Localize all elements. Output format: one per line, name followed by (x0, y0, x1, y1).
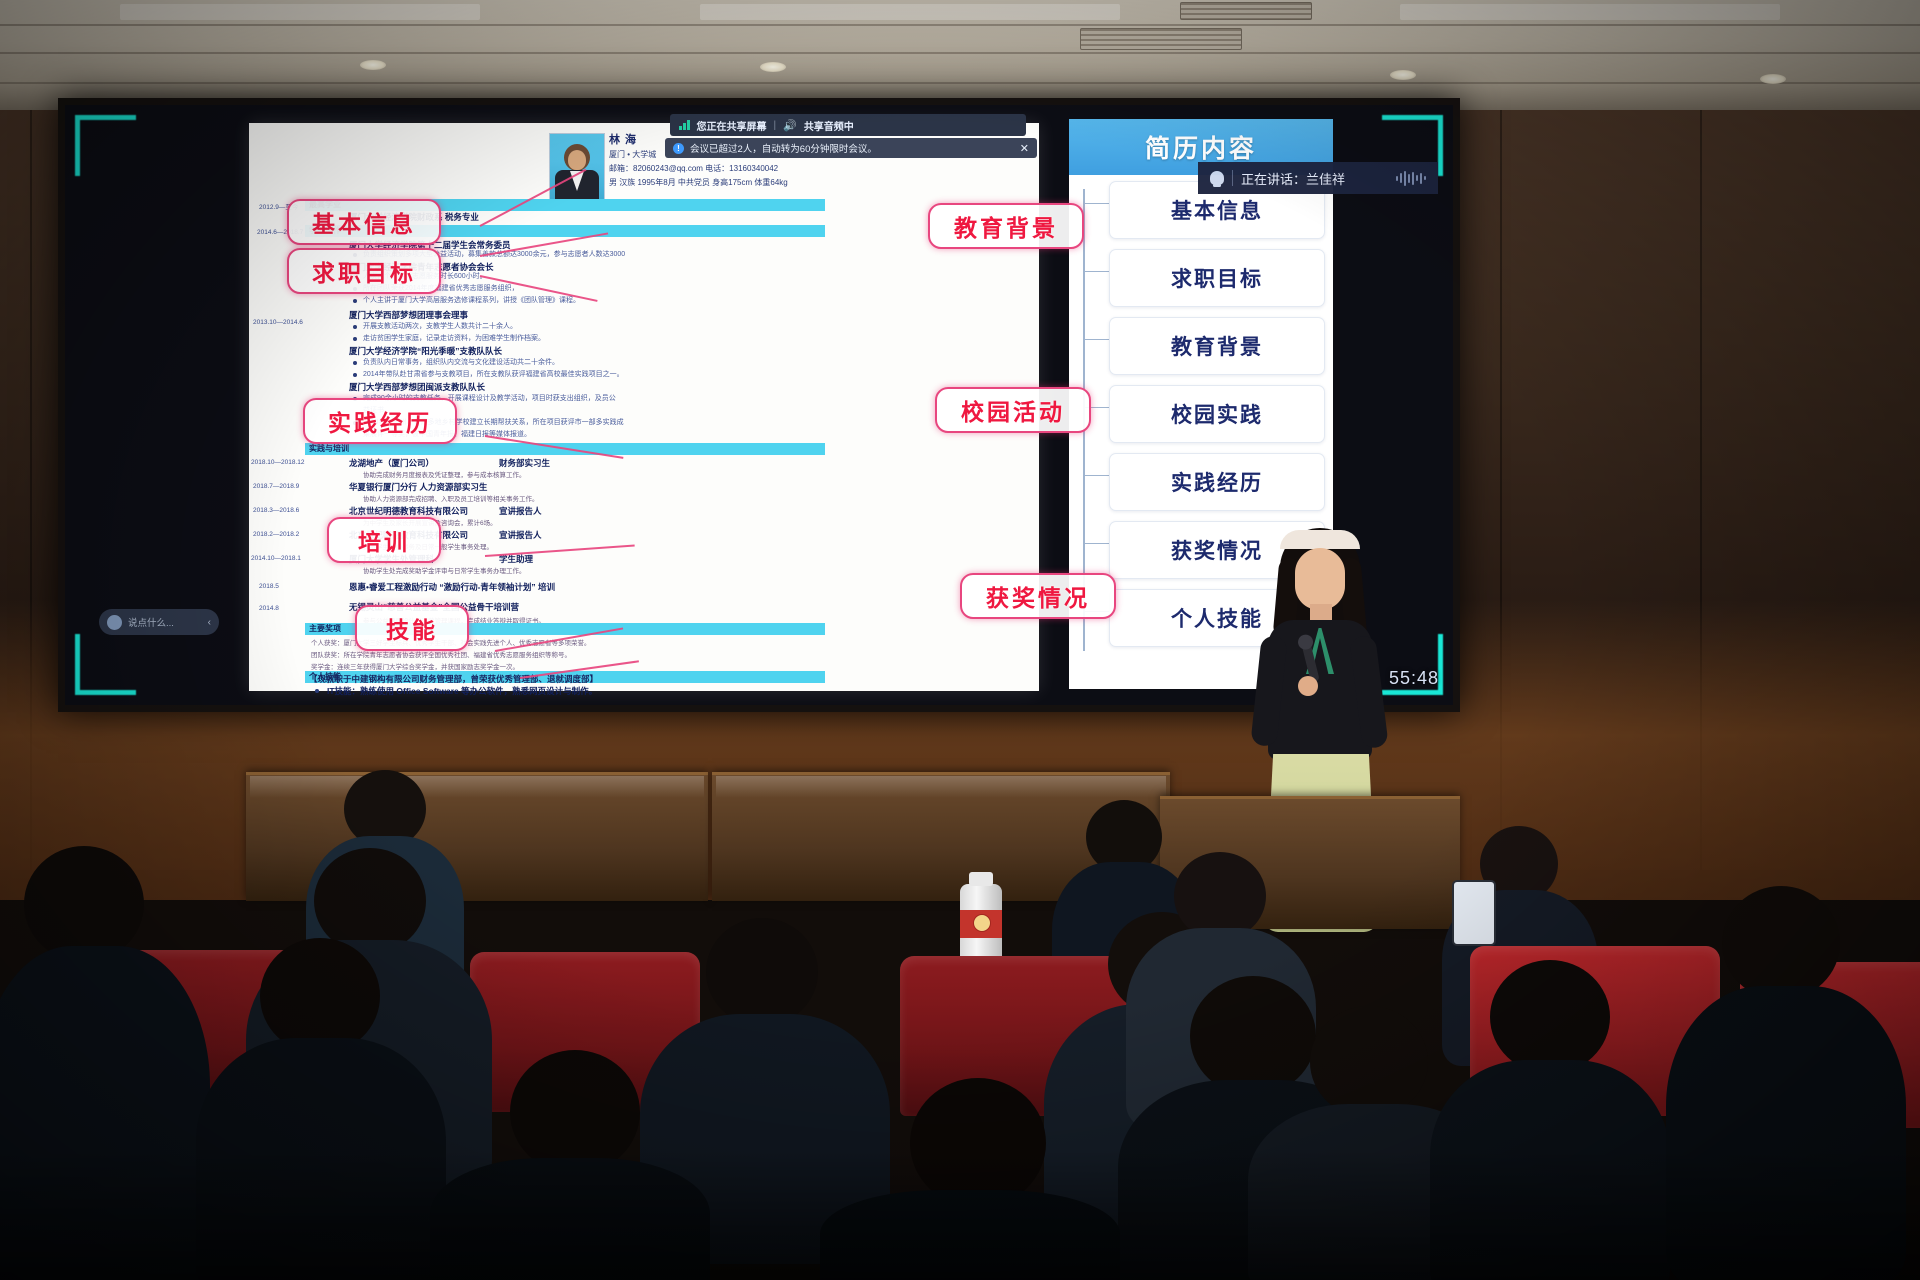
presenter-face (1295, 548, 1345, 610)
resume-contact-line: 邮箱：82060243@qq.com 电话：13160340042 (609, 163, 778, 174)
headband (1280, 530, 1360, 549)
resume-section-bar-label: 实践与培训 (309, 443, 349, 455)
entry-detail: 协助完成财务月度报表及凭证整理，参与成本核算工作。 (363, 469, 526, 479)
entry-detail: 协助人力资源部完成招聘、入职及员工培训等相关事务工作。 (363, 493, 539, 503)
outline-item-label: 求职目标 (1171, 263, 1263, 293)
outline-item-label: 基本信息 (1171, 195, 1263, 225)
entry-detail: 协助学生处完成奖助学金评审与日常学生事务办理工作。 (363, 565, 526, 575)
resume-section-bar-label: 主要奖项 (309, 623, 341, 635)
entry-org: 华夏银行厦门分行 人力资源部实习生 (349, 481, 487, 493)
resume-subline: 开展支教活动两次，支教学生人数共计二十余人。 (363, 321, 517, 331)
meeting-chat-input[interactable]: 说点什么... ‹ (99, 609, 219, 635)
resume-section-date: 2013.10—2014.6 (253, 319, 303, 326)
entry-date: 2018.5 (259, 583, 279, 590)
microphone-icon (1210, 171, 1224, 185)
screen-corner-bracket (75, 634, 136, 695)
ac-vent (1080, 28, 1242, 50)
outline-item-label: 校园实践 (1171, 399, 1263, 429)
annotation-training: 培训 (327, 517, 441, 563)
meeting-limit-notice: ! 会议已超过2人，自动转为60分钟限时会议。 ✕ (665, 138, 1037, 158)
annotation-label: 技能 (386, 611, 438, 645)
annotation-skills: 技能 (355, 605, 469, 651)
entry-role: 宣讲报告人 (499, 529, 542, 541)
resume-line: 厦门大学经济学院“阳光季暖”支教队队长 (349, 345, 502, 357)
close-icon[interactable]: ✕ (1020, 142, 1029, 155)
banner-separator: | (774, 120, 777, 131)
conference-room-photo: 林 海 厦门 • 大学城 邮箱：82060243@qq.com 电话：13160… (0, 0, 1920, 1280)
active-speaker-label: 正在讲话：兰佳祥 (1241, 169, 1345, 188)
sharing-label: 您正在共享屏幕 (697, 118, 767, 133)
annotation-label: 培训 (358, 523, 410, 557)
outline-item-internship[interactable]: 实践经历 (1109, 453, 1325, 511)
signal-bars-icon (679, 120, 690, 130)
ac-vent (1180, 2, 1312, 20)
ceiling-light (1760, 74, 1786, 84)
resume-footer: 【现就职于中建钢构有限公司财务管理部，曾荣获优秀管理部、退就调度部】 (309, 673, 598, 685)
resume-line: 厦门大学西部梦想团闽派支教队队长 (349, 381, 485, 393)
entry-org: 北京世纪明德教育科技有限公司 (349, 505, 468, 517)
active-speaker-indicator: 正在讲话：兰佳祥 (1198, 162, 1438, 194)
floor-shadow (0, 1150, 1920, 1280)
outline-item-job-objective[interactable]: 求职目标 (1109, 249, 1325, 307)
resume-line: 厦门大学西部梦想团理事会理事 (349, 309, 468, 321)
entry-date: 2018.7—2018.9 (253, 483, 299, 490)
annotation-job-objective: 求职目标 (287, 248, 441, 294)
annotation-label: 基本信息 (312, 205, 416, 239)
ceiling-light (1390, 70, 1416, 80)
resume-subline: 走访贫困学生家庭，记录走访资料，为困难学生制作档案。 (363, 333, 545, 343)
annotation-campus-activity: 校园活动 (935, 387, 1091, 433)
entry-org: 龙湖地产（厦门公司） (349, 457, 434, 469)
info-icon: ! (673, 143, 684, 154)
outline-header-label: 简历内容 (1145, 129, 1257, 165)
annotation-label: 获奖情况 (986, 579, 1090, 613)
entry-role: 宣讲报告人 (499, 505, 542, 517)
entry-date: 2018.10—2018.12 (251, 459, 305, 466)
chat-placeholder: 说点什么... (128, 615, 174, 629)
entry-date: 2018.2—2018.2 (253, 531, 299, 538)
audio-share-label: 共享音频中 (804, 118, 854, 133)
entry-date: 2018.3—2018.6 (253, 507, 299, 514)
annotation-label: 实践经历 (328, 404, 432, 438)
annotation-education: 教育背景 (928, 203, 1084, 249)
annotation-label: 求职目标 (312, 254, 416, 288)
award-line: 奖学金：连续三年获得厦门大学综合奖学金，并获国家励志奖学金一次。 (311, 661, 519, 671)
speaker-icon: 🔊 (783, 119, 797, 132)
ceiling-light (360, 60, 386, 70)
avatar-icon (107, 615, 122, 630)
entry-date: 2014.10—2018.1 (251, 555, 301, 562)
skill-line: IT技能：熟练使用 Office Software 等办公软件，熟悉网页设计与制… (327, 685, 597, 697)
ceiling-light (760, 62, 786, 72)
annotation-label: 校园活动 (961, 393, 1065, 427)
outline-item-campus-practice[interactable]: 校园实践 (1109, 385, 1325, 443)
outline-item-label: 实践经历 (1171, 467, 1263, 497)
annotation-awards: 获奖情况 (960, 573, 1116, 619)
entry-org: 恩惠•睿爱工程激励行动 “激励行动-青年领袖计划” 培训 (349, 581, 555, 593)
resume-contact-line: 厦门 • 大学城 (609, 149, 656, 160)
water-bottle (960, 884, 1002, 964)
screen-share-banner: 您正在共享屏幕 | 🔊 共享音频中 (670, 114, 1026, 136)
audio-waveform-icon (1396, 170, 1426, 186)
chevron-left-icon[interactable]: ‹ (208, 617, 211, 628)
outline-item-label: 教育背景 (1171, 331, 1263, 361)
resume-subline: 个人主讲于厦门大学高层服务选修课程系列，讲授《团队管理》课程。 (363, 295, 580, 305)
annotation-internship: 实践经历 (303, 398, 457, 444)
entry-date: 2014.8 (259, 605, 279, 612)
resume-photo (549, 133, 605, 205)
resume-contact-line: 男 汉族 1995年8月 中共党员 身高175cm 体重64kg (609, 177, 788, 188)
annotation-label: 教育背景 (954, 209, 1058, 243)
outline-item-education[interactable]: 教育背景 (1109, 317, 1325, 375)
resume-subline: 2014年带队赴甘肃省参与支教项目，所在支教队获评福建省高校最佳实践项目之一。 (363, 369, 624, 379)
resume-name: 林 海 (609, 131, 637, 147)
annotation-basic-info: 基本信息 (287, 199, 441, 245)
screen-corner-bracket (75, 115, 136, 176)
notice-text: 会议已超过2人，自动转为60分钟限时会议。 (690, 141, 877, 155)
smartphone (1452, 880, 1496, 946)
resume-subline: 负责队内日常事务，组织队内交流与文化建设活动共二十余件。 (363, 357, 559, 367)
entry-role: 财务部实习生 (499, 457, 550, 469)
